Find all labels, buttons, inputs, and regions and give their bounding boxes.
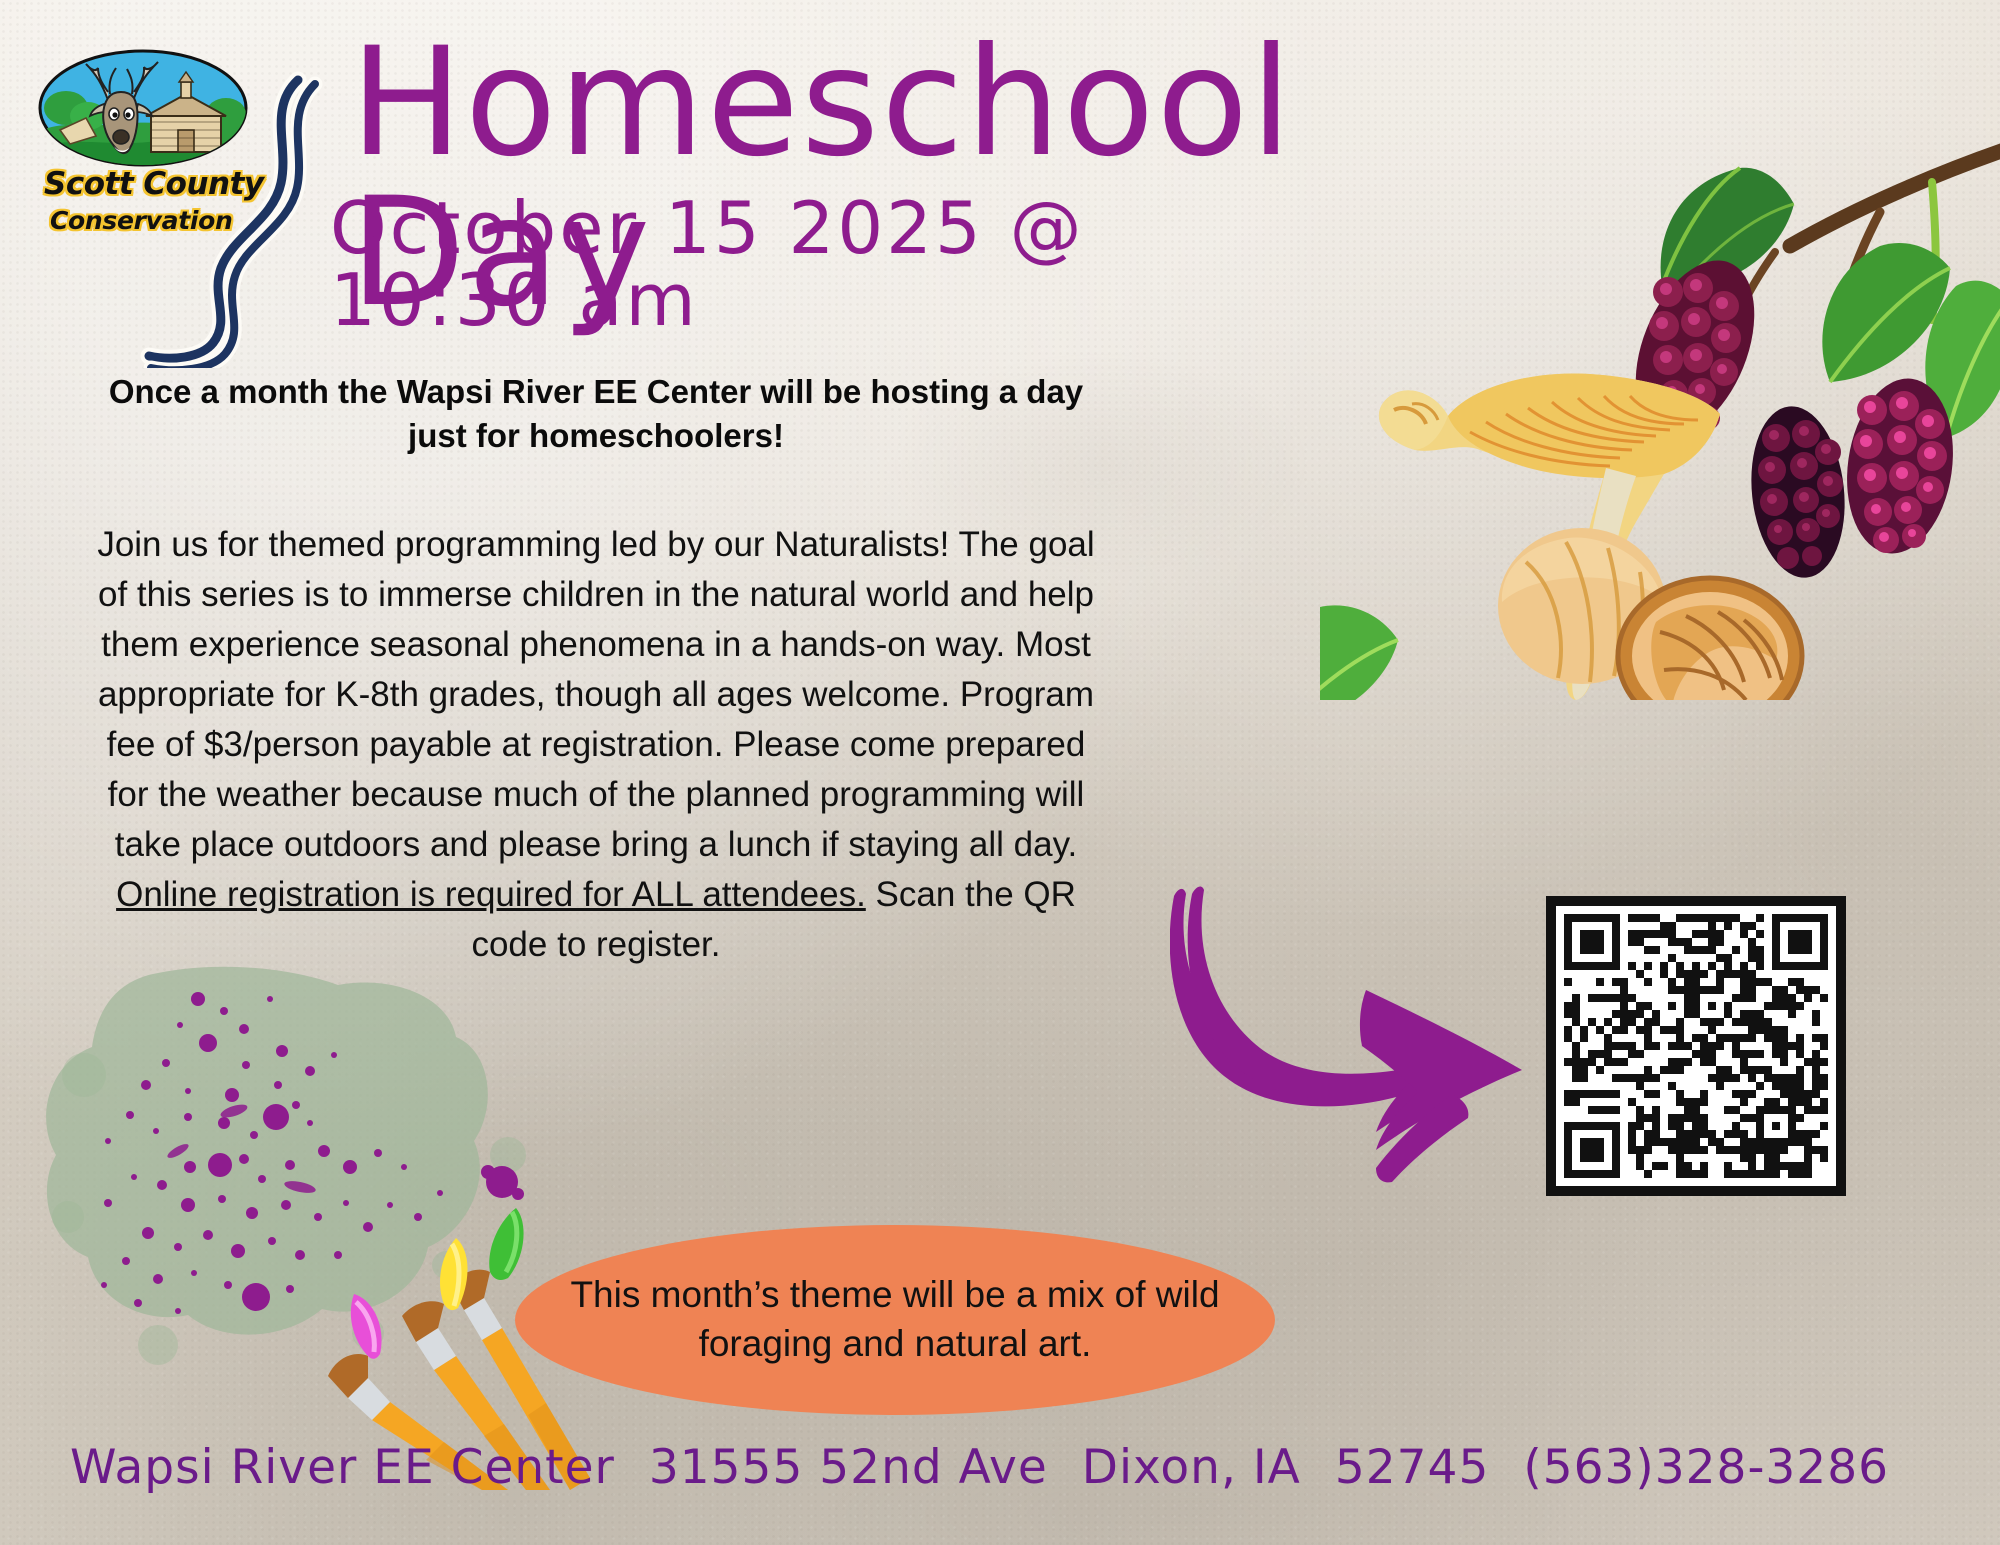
chanterelle-mulberry-walnut-illustration: [1320, 120, 2000, 700]
event-datetime: October 15 2025 @ 10:30 am: [330, 192, 1330, 336]
qr-code-modules: [1564, 914, 1828, 1178]
body-part-1: Join us for themed programming led by ou…: [97, 525, 1094, 864]
footer-street: 31555 52nd Ave: [649, 1440, 1048, 1495]
deer-schoolhouse-oval-icon: [38, 48, 248, 168]
footer-phone: (563)328-3286: [1523, 1440, 1889, 1495]
qr-code-quiet-zone: [1556, 906, 1836, 1186]
scott-county-conservation-logo: Scott County Conservation: [38, 38, 308, 278]
body-underlined: Online registration is required for ALL …: [116, 875, 866, 914]
body-paragraph: Join us for themed programming led by ou…: [86, 520, 1106, 970]
footer-contact: Wapsi River EE Center31555 52nd AveDixon…: [70, 1440, 1950, 1495]
qr-code-registration[interactable]: [1546, 896, 1846, 1196]
logo-name: Scott County: [44, 166, 284, 202]
footer-venue: Wapsi River EE Center: [70, 1440, 615, 1495]
curved-brush-arrow-right-icon: [1170, 880, 1530, 1210]
footer-zip: 52745: [1335, 1440, 1490, 1495]
poster-canvas: Scott County Conservation Homeschool Day…: [0, 0, 2000, 1545]
footer-city-state: Dixon, IA: [1082, 1440, 1301, 1495]
theme-callout-text: This month’s theme will be a mix of wild…: [515, 1271, 1275, 1369]
theme-callout-oval: This month’s theme will be a mix of wild…: [515, 1225, 1275, 1415]
intro-paragraph: Once a month the Wapsi River EE Center w…: [96, 370, 1096, 457]
logo-subtitle: Conservation: [50, 206, 290, 235]
